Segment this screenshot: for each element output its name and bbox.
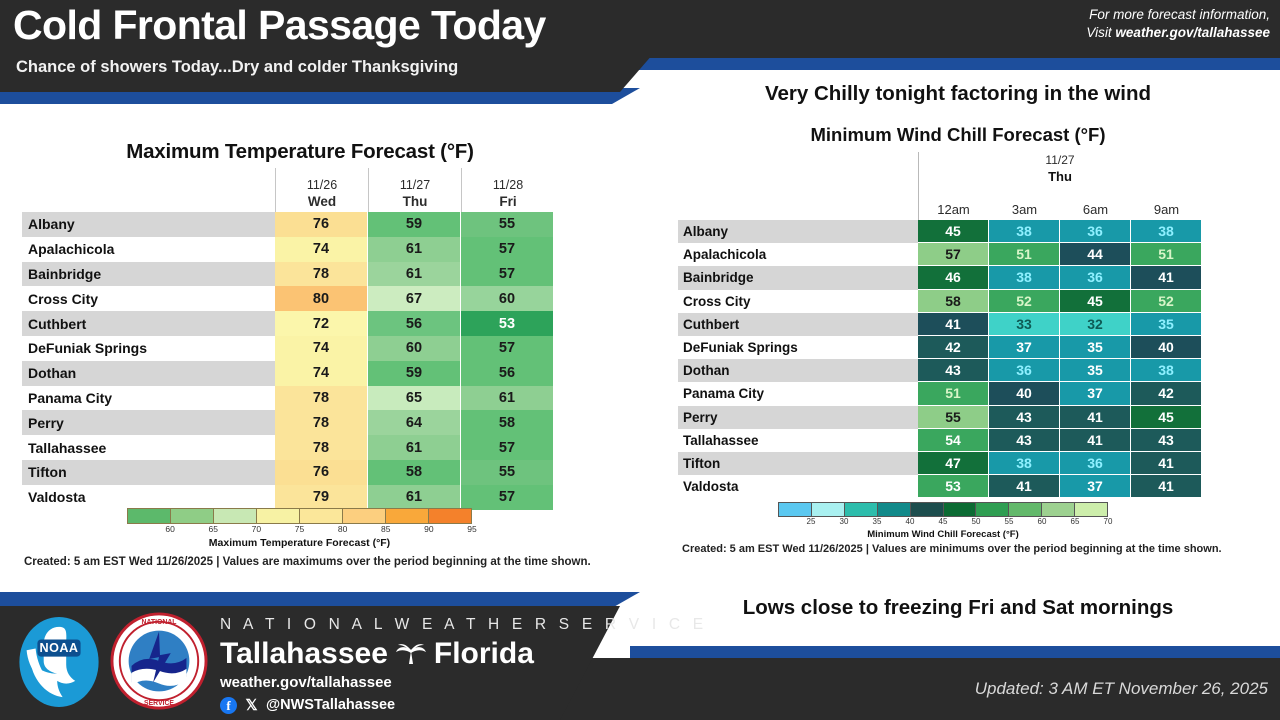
table-row: DeFuniak Springs746057 xyxy=(22,336,568,361)
wind-chill-cell: 43 xyxy=(918,359,989,382)
wind-chill-cell: 41 xyxy=(1131,266,1202,289)
max-temp-cell: 67 xyxy=(368,286,461,311)
wind-chill-cell: 51 xyxy=(918,382,989,405)
max-temp-cell: 78 xyxy=(275,435,368,460)
wind-chill-cell: 37 xyxy=(989,336,1060,359)
max-temp-cell: 61 xyxy=(368,435,461,460)
wind-chill-cell: 36 xyxy=(1060,220,1131,243)
max-temp-colorbar xyxy=(127,508,472,524)
max-temp-cell: 64 xyxy=(368,410,461,435)
wind-chill-cell: 55 xyxy=(918,406,989,429)
table-row: Bainbridge786157 xyxy=(22,262,568,287)
footer-office-city: Tallahassee xyxy=(220,636,388,672)
infographic-stage: Maximum Temperature Forecast (°F) 11/26 … xyxy=(0,0,1280,720)
wind-chill-cell: 51 xyxy=(1131,243,1202,266)
wind-chill-cell: 52 xyxy=(989,290,1060,313)
table-row: Bainbridge46383641 xyxy=(678,266,1202,289)
city-label: Tallahassee xyxy=(678,429,918,452)
footer-agency-name: N A T I O N A L W E A T H E R S E R V I … xyxy=(220,614,707,636)
wind-chill-cell: 52 xyxy=(1131,290,1202,313)
wind-chill-cell: 51 xyxy=(989,243,1060,266)
wind-chill-cell: 41 xyxy=(1060,406,1131,429)
max-temp-cell: 76 xyxy=(275,212,368,237)
max-temp-colorbar-ticks: 6065707580859095 xyxy=(127,524,472,538)
city-label: Apalachicola xyxy=(22,237,275,262)
table-row: Albany765955 xyxy=(22,212,568,237)
colorbar-tick-label: 60 xyxy=(165,524,174,534)
city-label: Dothan xyxy=(22,361,275,386)
wind-chill-cell: 45 xyxy=(1060,290,1131,313)
colorbar-swatch xyxy=(845,503,878,516)
city-label: Perry xyxy=(22,410,275,435)
wind-chill-cell: 47 xyxy=(918,452,989,475)
city-label: Albany xyxy=(678,220,918,243)
colorbar-swatch xyxy=(911,503,944,516)
wind-chill-hour-3: 9am xyxy=(1131,194,1202,220)
wind-chill-cell: 37 xyxy=(1060,382,1131,405)
footer-office-line: Tallahassee Florida xyxy=(220,636,707,672)
col-weekday: Fri xyxy=(462,193,554,210)
colorbar-tick-label: 65 xyxy=(1071,517,1080,526)
weather-gov-url[interactable]: weather.gov/tallahassee xyxy=(1115,25,1270,40)
max-temp-colorbar-group: 6065707580859095 Maximum Temperature For… xyxy=(0,508,600,549)
wind-chill-cell: 41 xyxy=(918,313,989,336)
wind-chill-cell: 41 xyxy=(989,475,1060,498)
max-temp-cell: 61 xyxy=(368,237,461,262)
wind-chill-cell: 45 xyxy=(1131,406,1202,429)
colorbar-tick-label: 25 xyxy=(807,517,816,526)
city-label: Albany xyxy=(22,212,275,237)
table-row: Panama City786561 xyxy=(22,386,568,411)
wind-chill-footnote: Lows close to freezing Fri and Sat morni… xyxy=(636,596,1280,620)
wind-chill-cell: 44 xyxy=(1060,243,1131,266)
colorbar-swatch xyxy=(779,503,812,516)
svg-text:NATIONAL: NATIONAL xyxy=(142,619,177,626)
forecast-info-link[interactable]: For more forecast information, Visit wea… xyxy=(1086,6,1270,42)
table-row: Cross City58524552 xyxy=(678,290,1202,313)
footer-social-row: f 𝕏 @NWSTallahassee xyxy=(220,694,707,716)
table-row: Tallahassee786157 xyxy=(22,435,568,460)
colorbar-tick-label: 70 xyxy=(1104,517,1113,526)
table-row: Valdosta796157 xyxy=(22,485,568,510)
max-temp-cell: 53 xyxy=(461,311,554,336)
max-temp-header-spacer xyxy=(22,168,275,212)
max-temp-cell: 55 xyxy=(461,460,554,485)
max-temp-cell: 65 xyxy=(368,386,461,411)
colorbar-swatch xyxy=(976,503,1009,516)
city-label: Valdosta xyxy=(22,485,275,510)
wind-chill-cell: 38 xyxy=(989,220,1060,243)
wind-chill-cell: 36 xyxy=(989,359,1060,382)
city-label: Tallahassee xyxy=(22,435,275,460)
city-label: Cuthbert xyxy=(22,311,275,336)
table-row: Tifton47383641 xyxy=(678,452,1202,475)
wind-chill-cell: 42 xyxy=(918,336,989,359)
city-label: Bainbridge xyxy=(678,266,918,289)
wind-chill-cell: 53 xyxy=(918,475,989,498)
city-label: Cross City xyxy=(678,290,918,313)
table-row: Panama City51403742 xyxy=(678,382,1202,405)
city-label: Panama City xyxy=(678,382,918,405)
max-temp-cell: 57 xyxy=(461,485,554,510)
svg-text:NOAA: NOAA xyxy=(40,641,79,655)
city-label: DeFuniak Springs xyxy=(22,336,275,361)
max-temp-cell: 74 xyxy=(275,361,368,386)
max-temp-cell: 76 xyxy=(275,460,368,485)
max-temp-cell: 61 xyxy=(368,485,461,510)
city-label: Tifton xyxy=(22,460,275,485)
table-row: Valdosta53413741 xyxy=(678,475,1202,498)
col-weekday: Thu xyxy=(369,193,461,210)
city-label: Perry xyxy=(678,406,918,429)
max-temp-title: Maximum Temperature Forecast (°F) xyxy=(0,140,600,164)
footer-social-handle[interactable]: @NWSTallahassee xyxy=(266,694,395,716)
max-temp-cell: 58 xyxy=(368,460,461,485)
facebook-icon[interactable]: f xyxy=(220,697,237,714)
table-row: Perry55434145 xyxy=(678,406,1202,429)
svg-text:SERVICE: SERVICE xyxy=(144,700,174,707)
wind-chill-cell: 40 xyxy=(989,382,1060,405)
footer-office-state: Florida xyxy=(434,636,534,672)
colorbar-tick-label: 35 xyxy=(873,517,882,526)
colorbar-tick-label: 65 xyxy=(209,524,218,534)
max-temp-table-body: Albany765955Apalachicola746157Bainbridge… xyxy=(22,212,568,510)
colorbar-swatch xyxy=(343,509,386,523)
city-label: DeFuniak Springs xyxy=(678,336,918,359)
max-temp-col-0: 11/26 Wed xyxy=(275,168,368,212)
max-temp-cell: 57 xyxy=(461,237,554,262)
table-row: Apalachicola746157 xyxy=(22,237,568,262)
colorbar-swatch xyxy=(300,509,343,523)
wind-chill-cell: 54 xyxy=(918,429,989,452)
max-temp-cell: 60 xyxy=(368,336,461,361)
wind-chill-cell: 36 xyxy=(1060,452,1131,475)
table-row: Albany45383638 xyxy=(678,220,1202,243)
colorbar-swatch xyxy=(1075,503,1107,516)
max-temp-colorbar-label: Maximum Temperature Forecast (°F) xyxy=(127,537,472,549)
wind-chill-cell: 32 xyxy=(1060,313,1131,336)
max-temp-cell: 79 xyxy=(275,485,368,510)
page-subtitle: Chance of showers Today...Dry and colder… xyxy=(16,58,636,77)
nws-seal-icon: NATIONAL SERVICE xyxy=(110,612,208,710)
colorbar-swatch xyxy=(1009,503,1042,516)
max-temp-table: 11/26 Wed 11/27 Thu 11/28 Fri Albany7659… xyxy=(22,168,568,510)
colorbar-tick-label: 30 xyxy=(840,517,849,526)
city-label: Apalachicola xyxy=(678,243,918,266)
wind-chill-cell: 43 xyxy=(989,429,1060,452)
wind-chill-hour-2: 6am xyxy=(1060,194,1131,220)
max-temp-cell: 57 xyxy=(461,336,554,361)
max-temp-cell: 56 xyxy=(368,311,461,336)
city-label: Panama City xyxy=(22,386,275,411)
colorbar-swatch xyxy=(812,503,845,516)
wind-chill-cell: 46 xyxy=(918,266,989,289)
wind-chill-cell: 35 xyxy=(1060,359,1131,382)
colorbar-tick-label: 40 xyxy=(906,517,915,526)
wind-chill-hour-1: 3am xyxy=(989,194,1060,220)
max-temp-cell: 61 xyxy=(461,386,554,411)
wind-chill-colorbar-group: 25303540455055606570 Minimum Wind Chill … xyxy=(636,502,1280,540)
col-weekday: Wed xyxy=(276,193,368,210)
max-temp-cell: 78 xyxy=(275,386,368,411)
max-temp-cell: 72 xyxy=(275,311,368,336)
max-temp-cell: 78 xyxy=(275,410,368,435)
wind-chill-cell: 58 xyxy=(918,290,989,313)
colorbar-swatch xyxy=(128,509,171,523)
wind-chill-cell: 35 xyxy=(1131,313,1202,336)
colorbar-tick-label: 70 xyxy=(252,524,261,534)
colorbar-tick-label: 45 xyxy=(939,517,948,526)
wind-chill-cell: 41 xyxy=(1131,475,1202,498)
noaa-logo-icon: NOAA xyxy=(14,614,104,710)
colorbar-swatch xyxy=(171,509,214,523)
table-row: Tallahassee54434143 xyxy=(678,429,1202,452)
max-temp-cell: 57 xyxy=(461,435,554,460)
colorbar-swatch xyxy=(1042,503,1075,516)
wind-chill-cell: 41 xyxy=(1131,452,1202,475)
palm-tree-icon xyxy=(394,643,428,665)
wind-chill-colorbar-label: Minimum Wind Chill Forecast (°F) xyxy=(778,529,1108,540)
max-temp-cell: 58 xyxy=(461,410,554,435)
max-temp-cell: 78 xyxy=(275,262,368,287)
city-label: Dothan xyxy=(678,359,918,382)
wind-chill-header-spacer xyxy=(678,194,918,220)
wind-chill-cell: 37 xyxy=(1060,475,1131,498)
table-row: Perry786458 xyxy=(22,410,568,435)
max-temp-cell: 74 xyxy=(275,237,368,262)
max-temp-cell: 59 xyxy=(368,212,461,237)
table-row: DeFuniak Springs42373540 xyxy=(678,336,1202,359)
col-date: 11/27 xyxy=(369,177,461,193)
max-temp-cell: 60 xyxy=(461,286,554,311)
page-title: Cold Frontal Passage Today xyxy=(13,2,653,49)
wind-chill-colorbar xyxy=(778,502,1108,517)
max-temp-table-header: 11/26 Wed 11/27 Thu 11/28 Fri xyxy=(22,168,568,212)
wind-chill-cell: 43 xyxy=(1131,429,1202,452)
wind-chill-cell: 33 xyxy=(989,313,1060,336)
wind-chill-hour-0: 12am xyxy=(918,194,989,220)
colorbar-tick-label: 60 xyxy=(1038,517,1047,526)
table-row: Cross City806760 xyxy=(22,286,568,311)
colorbar-tick-label: 85 xyxy=(381,524,390,534)
max-temp-cell: 74 xyxy=(275,336,368,361)
footer-text-block: N A T I O N A L W E A T H E R S E R V I … xyxy=(220,614,707,716)
wind-chill-cell: 45 xyxy=(918,220,989,243)
updated-timestamp: Updated: 3 AM ET November 26, 2025 xyxy=(975,679,1268,699)
footer-url[interactable]: weather.gov/tallahassee xyxy=(220,672,707,694)
wind-chill-cell: 38 xyxy=(1131,359,1202,382)
city-label: Bainbridge xyxy=(22,262,275,287)
max-temp-created-note: Created: 5 am EST Wed 11/26/2025 | Value… xyxy=(24,556,591,568)
wind-chill-cell: 36 xyxy=(1060,266,1131,289)
max-temp-cell: 80 xyxy=(275,286,368,311)
colorbar-tick-label: 90 xyxy=(424,524,433,534)
wind-chill-cell: 43 xyxy=(989,406,1060,429)
max-temp-cell: 59 xyxy=(368,361,461,386)
max-temp-col-2: 11/28 Fri xyxy=(461,168,554,212)
wind-chill-cell: 38 xyxy=(989,266,1060,289)
colorbar-swatch xyxy=(214,509,257,523)
colorbar-swatch xyxy=(257,509,300,523)
colorbar-swatch xyxy=(429,509,471,523)
forecast-info-line2: Visit weather.gov/tallahassee xyxy=(1086,24,1270,42)
colorbar-swatch xyxy=(386,509,429,523)
max-temp-cell: 56 xyxy=(461,361,554,386)
wind-chill-table: 11/27 Thu 12am 3am 6am 9am Albany4538363… xyxy=(678,152,1202,498)
wind-chill-created-note: Created: 5 am EST Wed 11/26/2025 | Value… xyxy=(682,543,1222,555)
wind-chill-cell: 41 xyxy=(1060,429,1131,452)
wind-chill-date: 11/27 xyxy=(918,152,1202,168)
wind-chill-headline: Very Chilly tonight factoring in the win… xyxy=(636,82,1280,106)
wind-chill-cell: 57 xyxy=(918,243,989,266)
colorbar-tick-label: 75 xyxy=(295,524,304,534)
max-temp-cell: 55 xyxy=(461,212,554,237)
footer-blue-stripe-left xyxy=(0,592,640,608)
wind-chill-title: Minimum Wind Chill Forecast (°F) xyxy=(636,124,1280,146)
table-row: Tifton765855 xyxy=(22,460,568,485)
max-temp-cell: 57 xyxy=(461,262,554,287)
table-row: Dothan43363538 xyxy=(678,359,1202,382)
wind-chill-date-block: 11/27 Thu xyxy=(918,152,1202,185)
x-twitter-icon[interactable]: 𝕏 xyxy=(243,697,260,714)
col-date: 11/28 xyxy=(462,177,554,193)
colorbar-tick-label: 80 xyxy=(338,524,347,534)
wind-chill-cell: 38 xyxy=(1131,220,1202,243)
colorbar-tick-label: 95 xyxy=(467,524,476,534)
header-blue-stripe-right xyxy=(630,58,1280,70)
city-label: Valdosta xyxy=(678,475,918,498)
colorbar-swatch xyxy=(878,503,911,516)
colorbar-tick-label: 50 xyxy=(972,517,981,526)
city-label: Tifton xyxy=(678,452,918,475)
table-row: Cuthbert41333235 xyxy=(678,313,1202,336)
table-row: Cuthbert725653 xyxy=(22,311,568,336)
wind-chill-weekday: Thu xyxy=(918,168,1202,185)
city-label: Cuthbert xyxy=(678,313,918,336)
visit-word: Visit xyxy=(1086,25,1115,40)
wind-chill-cell: 35 xyxy=(1060,336,1131,359)
wind-chill-cell: 42 xyxy=(1131,382,1202,405)
table-row: Apalachicola57514451 xyxy=(678,243,1202,266)
wind-chill-table-body: Albany45383638Apalachicola57514451Bainbr… xyxy=(678,220,1202,498)
wind-chill-cell: 40 xyxy=(1131,336,1202,359)
wind-chill-hour-header: 12am 3am 6am 9am xyxy=(678,194,1202,220)
table-row: Dothan745956 xyxy=(22,361,568,386)
max-temp-col-1: 11/27 Thu xyxy=(368,168,461,212)
wind-chill-date-header: 11/27 Thu xyxy=(678,152,1202,194)
max-temp-cell: 61 xyxy=(368,262,461,287)
colorbar-tick-label: 55 xyxy=(1005,517,1014,526)
colorbar-swatch xyxy=(944,503,977,516)
forecast-info-line1: For more forecast information, xyxy=(1086,6,1270,24)
col-date: 11/26 xyxy=(276,177,368,193)
city-label: Cross City xyxy=(22,286,275,311)
wind-chill-cell: 38 xyxy=(989,452,1060,475)
